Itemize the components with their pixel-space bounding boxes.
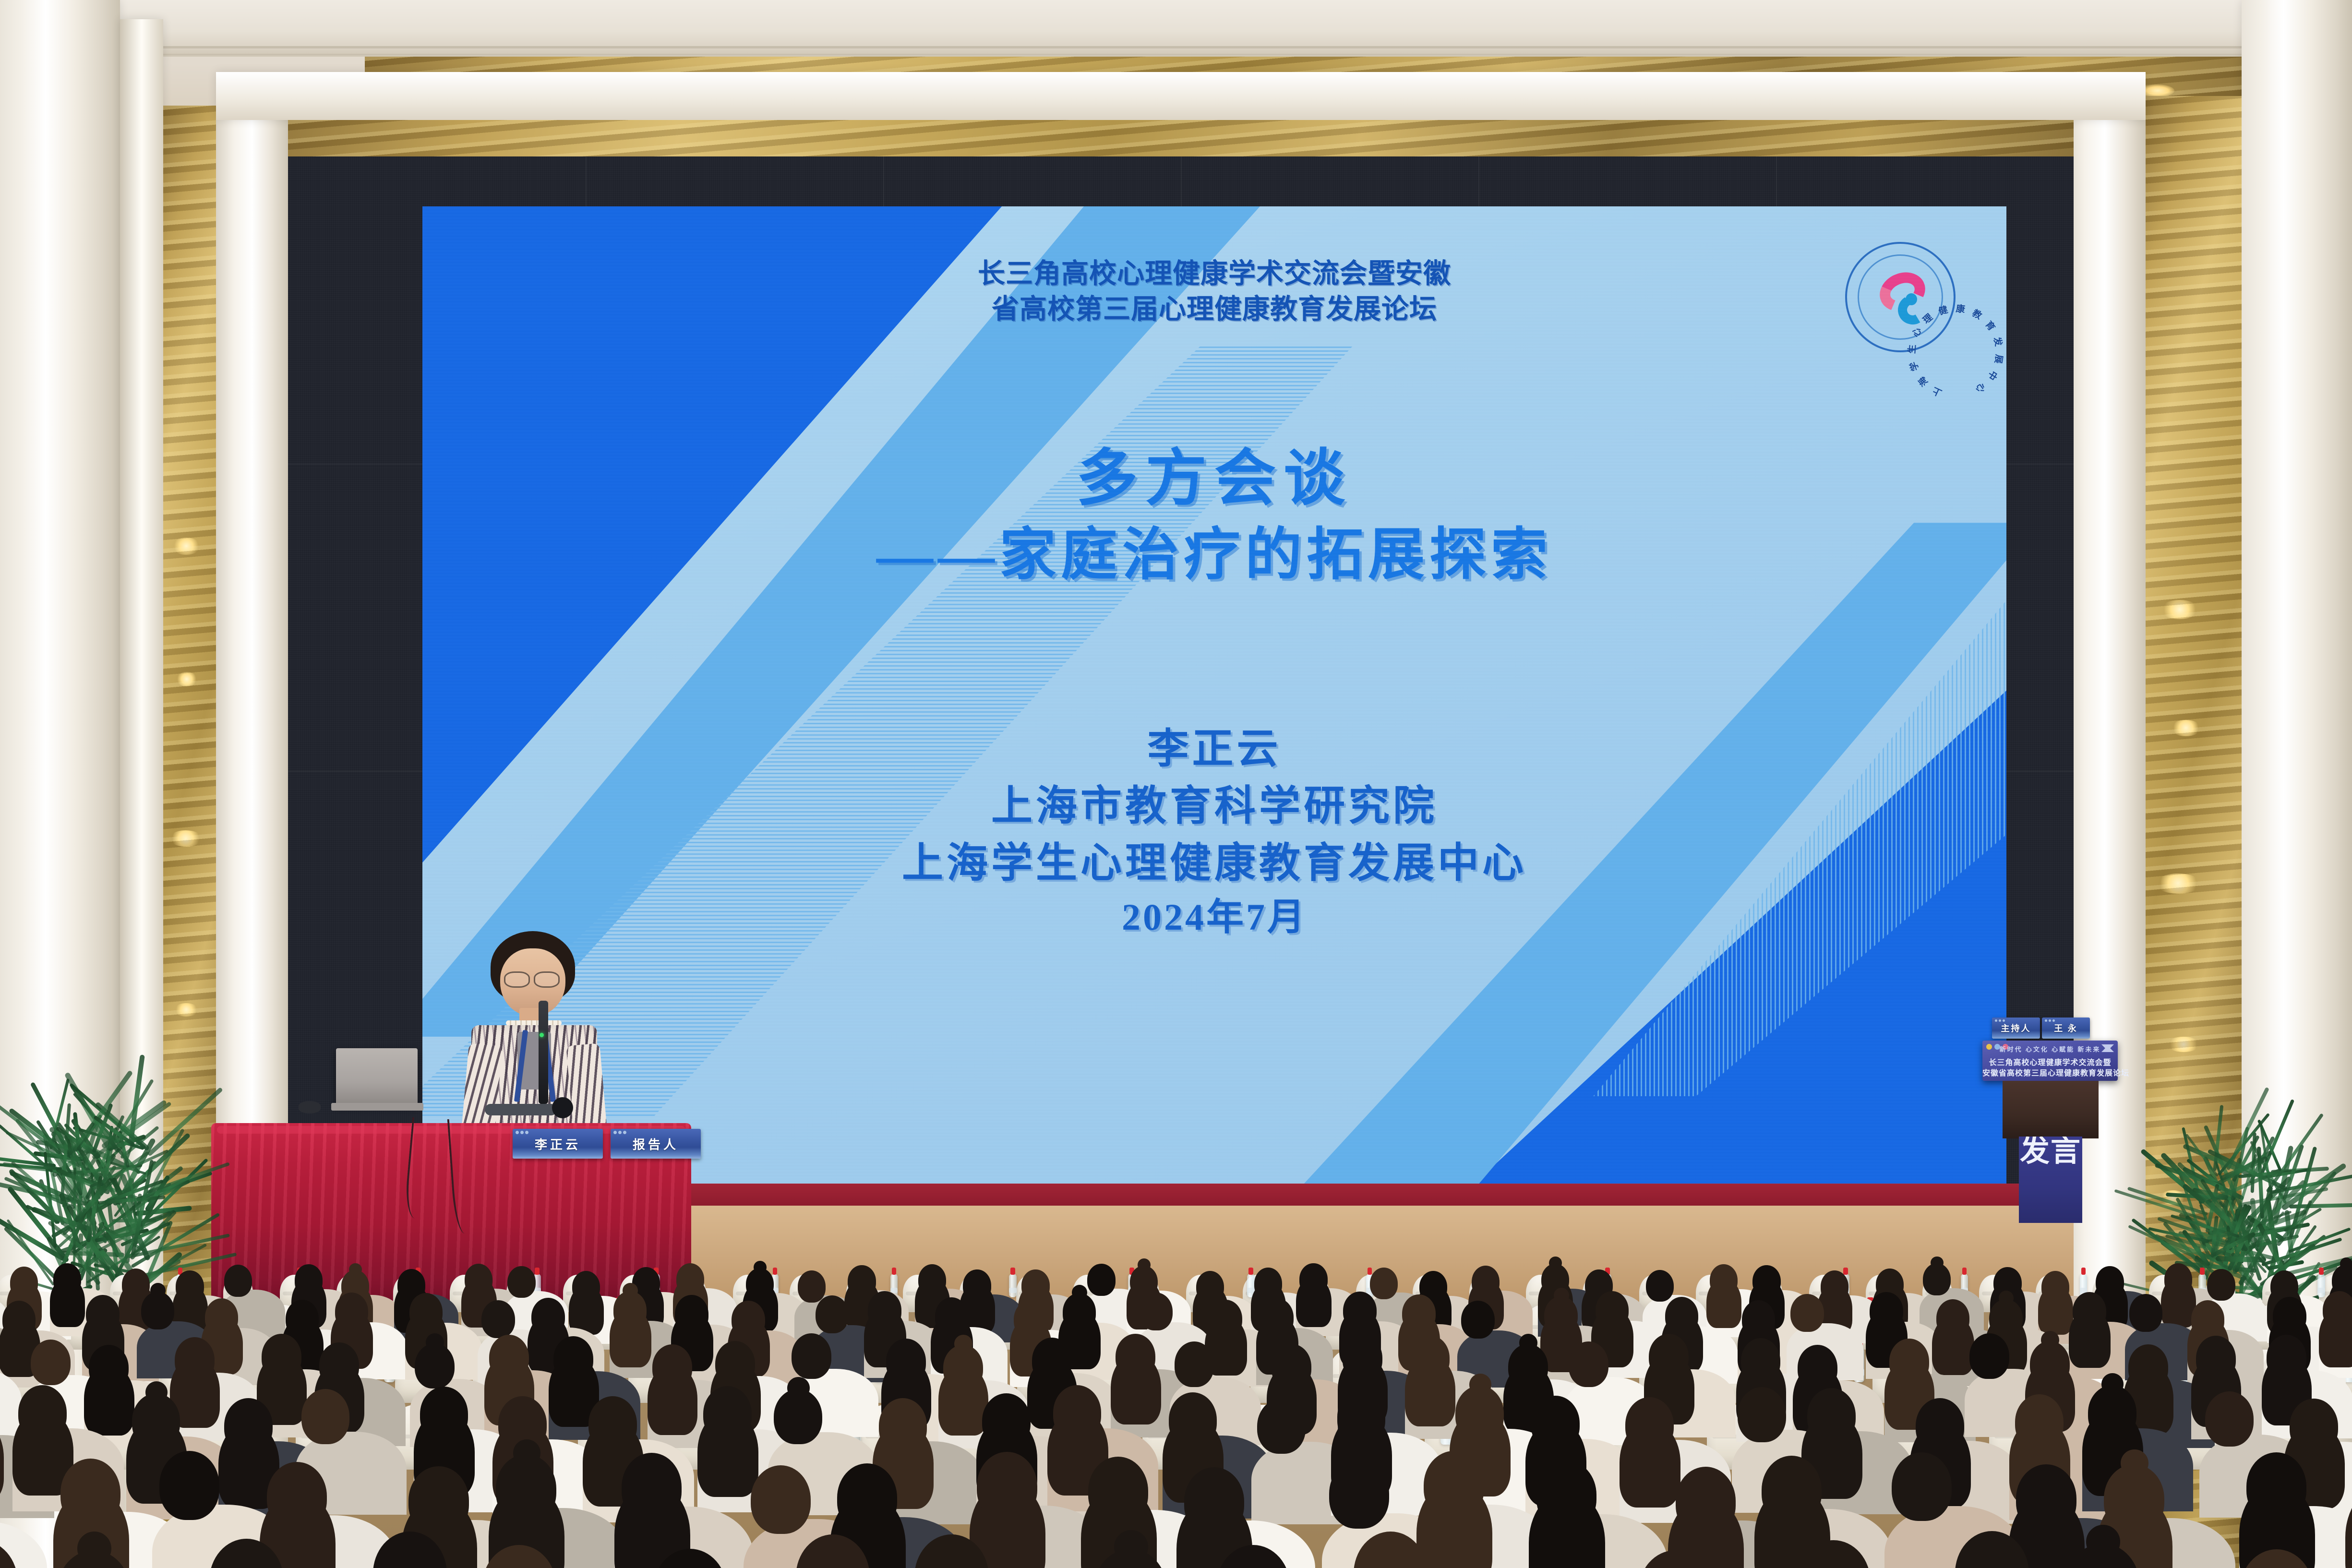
audience-person-hair-bun bbox=[1138, 1258, 1151, 1271]
audience-person-head bbox=[1649, 1334, 1689, 1379]
audience-person-head bbox=[408, 1466, 468, 1535]
audience-person-head bbox=[2016, 1464, 2076, 1533]
audience bbox=[0, 1040, 2352, 1568]
audience-person-head bbox=[224, 1398, 273, 1453]
audience-person-hair-bun bbox=[954, 1335, 972, 1353]
audience-person-head bbox=[837, 1463, 897, 1532]
audience-person-head bbox=[2207, 1269, 2235, 1301]
audience-person-hair-bun bbox=[2041, 1331, 2059, 1349]
audience-person-head bbox=[1254, 1268, 1282, 1300]
audience-person-head bbox=[1646, 1270, 1674, 1302]
audience-person-head bbox=[792, 1333, 831, 1379]
podium-nameplate-name-text: 王 永 bbox=[2054, 1022, 2078, 1034]
audience-person-head bbox=[267, 1462, 327, 1531]
audience-person-hair-bun bbox=[150, 1283, 166, 1298]
podium-nameplate-name: 王 永 bbox=[2042, 1017, 2090, 1039]
presenter-affiliation-2: 上海学生心理健康教育发展中心 bbox=[422, 835, 2006, 892]
audience-person-head bbox=[2191, 1300, 2224, 1338]
audience-person-head bbox=[409, 1293, 443, 1331]
audience-person-head bbox=[1021, 1269, 1049, 1302]
audience-person-head bbox=[879, 1398, 927, 1453]
audience-person-head bbox=[481, 1300, 515, 1338]
audience-person-hair-bun bbox=[1114, 1530, 1148, 1564]
audience-person-head bbox=[1821, 1270, 1848, 1303]
audience-person-head bbox=[10, 1267, 38, 1299]
audience-person-head bbox=[1175, 1341, 1214, 1387]
audience-person-head bbox=[676, 1263, 704, 1295]
audience-person-head bbox=[751, 1465, 811, 1534]
audience-person-hair-bun bbox=[349, 1263, 362, 1276]
audience-person-head bbox=[1625, 1397, 1674, 1452]
audience-person-head bbox=[86, 1295, 119, 1333]
audience-person-head bbox=[1536, 1460, 1596, 1529]
audience-person-head bbox=[1798, 1345, 1837, 1390]
audience-person-head bbox=[1969, 1333, 2009, 1379]
presenter-affiliation-1: 上海市教育科学研究院 bbox=[422, 778, 2006, 835]
audience-person-head bbox=[1196, 1271, 1224, 1303]
audience-person-hair-bun bbox=[1931, 1257, 1944, 1269]
audience-person-head bbox=[262, 1334, 301, 1379]
audience-person-head bbox=[1762, 1456, 1822, 1524]
audience-person-hair-bun bbox=[2086, 1525, 2120, 1559]
audience-person-head bbox=[175, 1337, 215, 1383]
presentation-date: 2024年7月 bbox=[422, 891, 2006, 943]
audience-person-head bbox=[531, 1298, 564, 1336]
audience-person-head bbox=[1742, 1300, 1775, 1338]
audience-person-head bbox=[1184, 1467, 1244, 1536]
audience-person-head bbox=[1053, 1385, 1102, 1440]
audience-person-head bbox=[2273, 1297, 2306, 1335]
gold-panel-screen-top bbox=[288, 120, 2074, 157]
audience-person-head bbox=[2290, 1399, 2338, 1454]
audience-person-head bbox=[935, 1297, 968, 1335]
audience-person-head bbox=[572, 1271, 600, 1303]
audience-person-hair-bun bbox=[1999, 1291, 2014, 1306]
audience-person-head bbox=[1343, 1335, 1382, 1381]
audience-person-hair-bun bbox=[77, 1532, 111, 1566]
audience-person-head bbox=[1169, 1392, 1217, 1448]
audience-person-head bbox=[982, 1393, 1031, 1448]
slide-presenter-block: 李正云 上海市教育科学研究院 上海学生心理健康教育发展中心 2024年7月 bbox=[422, 720, 2006, 943]
audience-person-head bbox=[1257, 1399, 1306, 1454]
audience-person-head bbox=[1472, 1266, 1500, 1298]
audience-person-head bbox=[1116, 1334, 1155, 1379]
audience-person-head bbox=[2073, 1292, 2106, 1330]
audience-person-head bbox=[31, 1340, 71, 1385]
audience-person-head bbox=[159, 1451, 219, 1520]
logo-char: 展 bbox=[1992, 354, 2006, 365]
audience-person-head bbox=[588, 1396, 637, 1451]
audience-person-head bbox=[1140, 1293, 1173, 1330]
audience-person-head bbox=[715, 1341, 755, 1387]
audience-person-head bbox=[301, 1389, 350, 1444]
audience-person-head bbox=[1032, 1338, 1072, 1383]
audience-person-head bbox=[2015, 1394, 2064, 1449]
audience-person-hair-bun bbox=[2101, 1373, 2124, 1395]
audience-person-head bbox=[1596, 1291, 1629, 1329]
presenter-name: 李正云 bbox=[422, 720, 2006, 778]
audience-person-head bbox=[732, 1301, 765, 1339]
audience-person-head bbox=[1424, 1451, 1484, 1520]
header-beam bbox=[216, 72, 2146, 120]
audience-person-head bbox=[1569, 1341, 1608, 1387]
audience-person-hair-bun bbox=[513, 1439, 541, 1467]
audience-person-head bbox=[53, 1263, 81, 1295]
audience-person-hair-bun bbox=[1549, 1257, 1562, 1269]
audience-person-head bbox=[798, 1270, 826, 1303]
audience-person-head bbox=[1790, 1294, 1824, 1332]
water-bottle bbox=[2317, 1274, 2325, 1298]
logo-char: 心 bbox=[1908, 325, 1924, 339]
audience-person-head bbox=[703, 1386, 752, 1441]
logo-emblem-icon bbox=[1878, 273, 1927, 324]
slide-title-line-2: ——家庭治疗的拓展探索 bbox=[422, 518, 2006, 592]
slide-title: 多方会谈 ——家庭治疗的拓展探索 bbox=[422, 439, 2006, 592]
audience-person-head bbox=[1752, 1265, 1780, 1297]
podium-nameplate-role: 主持人 bbox=[1992, 1017, 2040, 1039]
audience-person-head bbox=[18, 1385, 67, 1440]
audience-person-hair-bun bbox=[1554, 1288, 1569, 1303]
audience-person-head bbox=[2, 1301, 36, 1339]
audience-person-head bbox=[465, 1264, 492, 1296]
audience-person-head bbox=[1337, 1389, 1386, 1445]
audience-person-head bbox=[1014, 1300, 1047, 1338]
ceiling-molding-2 bbox=[0, 54, 2352, 55]
speaker-glasses-left bbox=[504, 971, 530, 988]
audience-person-head bbox=[286, 1300, 319, 1338]
audience-person-head bbox=[2129, 1294, 2162, 1332]
audience-person-head bbox=[1402, 1294, 1435, 1332]
audience-person-head bbox=[176, 1270, 204, 1303]
audience-person-head bbox=[1209, 1300, 1242, 1338]
audience-person-head bbox=[1676, 1467, 1736, 1535]
logo-char: 生 bbox=[1905, 344, 1918, 354]
audience-person-hair-bun bbox=[623, 1283, 638, 1298]
logo-char: 康 bbox=[1956, 301, 1966, 315]
audience-person-head bbox=[2041, 1271, 2069, 1303]
audience-person-head bbox=[205, 1298, 238, 1336]
audience-person-head bbox=[1889, 1339, 1929, 1384]
audience-person-head bbox=[1531, 1396, 1580, 1451]
audience-person-hair-bun bbox=[2340, 1257, 2352, 1270]
podium-nameplate-role-text: 主持人 bbox=[2001, 1022, 2031, 1034]
audience-person-head bbox=[918, 1264, 946, 1296]
audience-person-hair-bun bbox=[145, 1381, 168, 1403]
audience-person-head bbox=[1260, 1298, 1293, 1336]
audience-person-head bbox=[2323, 1291, 2352, 1329]
audience-person-head bbox=[977, 1452, 1037, 1520]
audience-person-head bbox=[2196, 1336, 2236, 1381]
slide-header-line-2: 省高校第三届心理健康教育发展论坛 bbox=[422, 291, 2006, 327]
audience-person-hair-bun bbox=[754, 1261, 767, 1274]
water-bottle bbox=[1009, 1274, 1017, 1298]
audience-person-hair-bun bbox=[1346, 1445, 1374, 1472]
audience-person-head bbox=[1665, 1297, 1698, 1335]
audience-person-head bbox=[1870, 1292, 1903, 1330]
audience-person-head bbox=[2096, 1266, 2124, 1298]
audience-person-head bbox=[2164, 1263, 2192, 1295]
audience-person-head bbox=[1087, 1264, 1115, 1296]
audience-person-head bbox=[622, 1453, 682, 1521]
organization-logo: 上海学生心理健康教育发展中心 bbox=[1845, 242, 1956, 352]
audience-person-head bbox=[1461, 1301, 1494, 1339]
audience-person-head bbox=[1892, 1452, 1952, 1521]
audience-person-head bbox=[1807, 1388, 1856, 1443]
audience-person-hair-bun bbox=[1072, 1285, 1087, 1300]
audience-person-head bbox=[60, 1459, 120, 1527]
audience-person-hair-bun bbox=[2121, 1449, 2148, 1477]
audience-person-head bbox=[1936, 1299, 1969, 1337]
speaker-glasses-right bbox=[534, 971, 560, 988]
audience-person-head bbox=[1343, 1292, 1376, 1329]
audience-person-head bbox=[489, 1335, 529, 1380]
audience-person-head bbox=[420, 1387, 468, 1442]
audience-person-head bbox=[224, 1265, 252, 1297]
audience-person-head bbox=[868, 1291, 901, 1329]
audience-person-head bbox=[1370, 1268, 1398, 1300]
logo-char: 健 bbox=[1937, 302, 1949, 317]
ceiling-molding bbox=[0, 46, 2352, 48]
audience-person-head bbox=[963, 1269, 991, 1302]
audience-person-head bbox=[553, 1336, 593, 1382]
audience-person-head bbox=[295, 1264, 323, 1296]
audience-person-head bbox=[886, 1339, 926, 1384]
audience-person-head bbox=[848, 1265, 876, 1297]
conference-photo: 长三角高校心理健康学术交流会暨安徽 省高校第三届心理健康教育发展论坛 上海学生心… bbox=[0, 0, 2352, 1568]
audience-person-hair-bun bbox=[426, 1333, 444, 1352]
audience-person-head bbox=[2205, 1391, 2254, 1447]
audience-person-hair-bun bbox=[787, 1377, 809, 1399]
audience-person-head bbox=[335, 1293, 368, 1330]
audience-person-head bbox=[507, 1266, 535, 1298]
slide-title-line-1: 多方会谈 bbox=[422, 439, 2006, 518]
audience-person-head bbox=[319, 1342, 359, 1388]
audience-person-head bbox=[2267, 1335, 2306, 1380]
audience-person-head bbox=[1272, 1344, 1311, 1389]
slide-header: 长三角高校心理健康学术交流会暨安徽 省高校第三届心理健康教育发展论坛 bbox=[422, 256, 2006, 327]
slide-header-line-1: 长三角高校心理健康学术交流会暨安徽 bbox=[422, 256, 2006, 291]
audience-person-head bbox=[1738, 1387, 1786, 1442]
audience-person-head bbox=[1741, 1338, 1781, 1384]
audience-person-head bbox=[1088, 1457, 1148, 1525]
audience-person-head bbox=[652, 1344, 692, 1390]
audience-person-head bbox=[89, 1345, 129, 1390]
audience-person-head bbox=[1410, 1335, 1450, 1381]
audience-person-head bbox=[122, 1269, 150, 1301]
audience-person-head bbox=[1710, 1264, 1738, 1296]
microphone-led-icon bbox=[540, 1033, 544, 1037]
audience-person-head bbox=[2246, 1452, 2306, 1521]
audience-person-head bbox=[2128, 1344, 2168, 1390]
audience-person-hair-bun bbox=[1469, 1374, 1491, 1396]
audience-person-head bbox=[1299, 1263, 1327, 1295]
audience-person-head bbox=[1916, 1398, 1964, 1453]
audience-person-head bbox=[816, 1295, 849, 1333]
audience-person-head bbox=[675, 1295, 708, 1333]
